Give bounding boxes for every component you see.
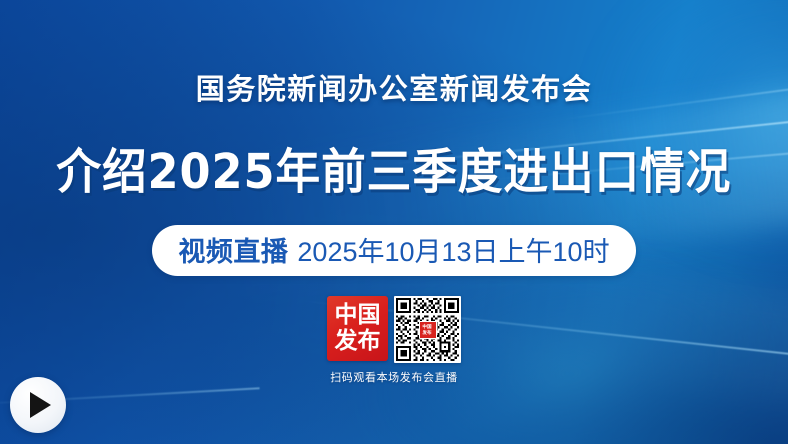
qr-code[interactable]: 中国 发布 <box>394 296 461 363</box>
qr-center-logo: 中国 发布 <box>419 321 437 339</box>
page-title: 介绍2025年前三季度进出口情况 <box>57 132 732 202</box>
poster-content: 国务院新闻办公室新闻发布会 介绍2025年前三季度进出口情况 视频直播 2025… <box>0 0 788 444</box>
qr-row: 中国 发布 <box>327 296 461 363</box>
brand-logo-line-1: 中国 <box>335 303 381 328</box>
qr-center-line-2: 发布 <box>423 330 432 336</box>
live-badge-datetime: 2025年10月13日上午10时 <box>297 230 609 269</box>
event-organizer-title: 国务院新闻办公室新闻发布会 <box>196 66 593 108</box>
qr-center-line-1: 中国 <box>423 324 432 330</box>
china-release-logo: 中国 发布 <box>327 296 388 361</box>
play-button[interactable] <box>10 377 66 433</box>
live-badge-label: 视频直播 <box>178 230 288 269</box>
brand-logo-line-2: 发布 <box>335 329 381 354</box>
play-icon <box>30 392 51 418</box>
qr-scan-block: 中国 发布 <box>327 296 461 385</box>
live-broadcast-badge: 视频直播 2025年10月13日上午10时 <box>152 225 635 276</box>
live-stream-poster: 国务院新闻办公室新闻发布会 介绍2025年前三季度进出口情况 视频直播 2025… <box>0 0 788 444</box>
qr-caption: 扫码观看本场发布会直播 <box>330 369 458 385</box>
